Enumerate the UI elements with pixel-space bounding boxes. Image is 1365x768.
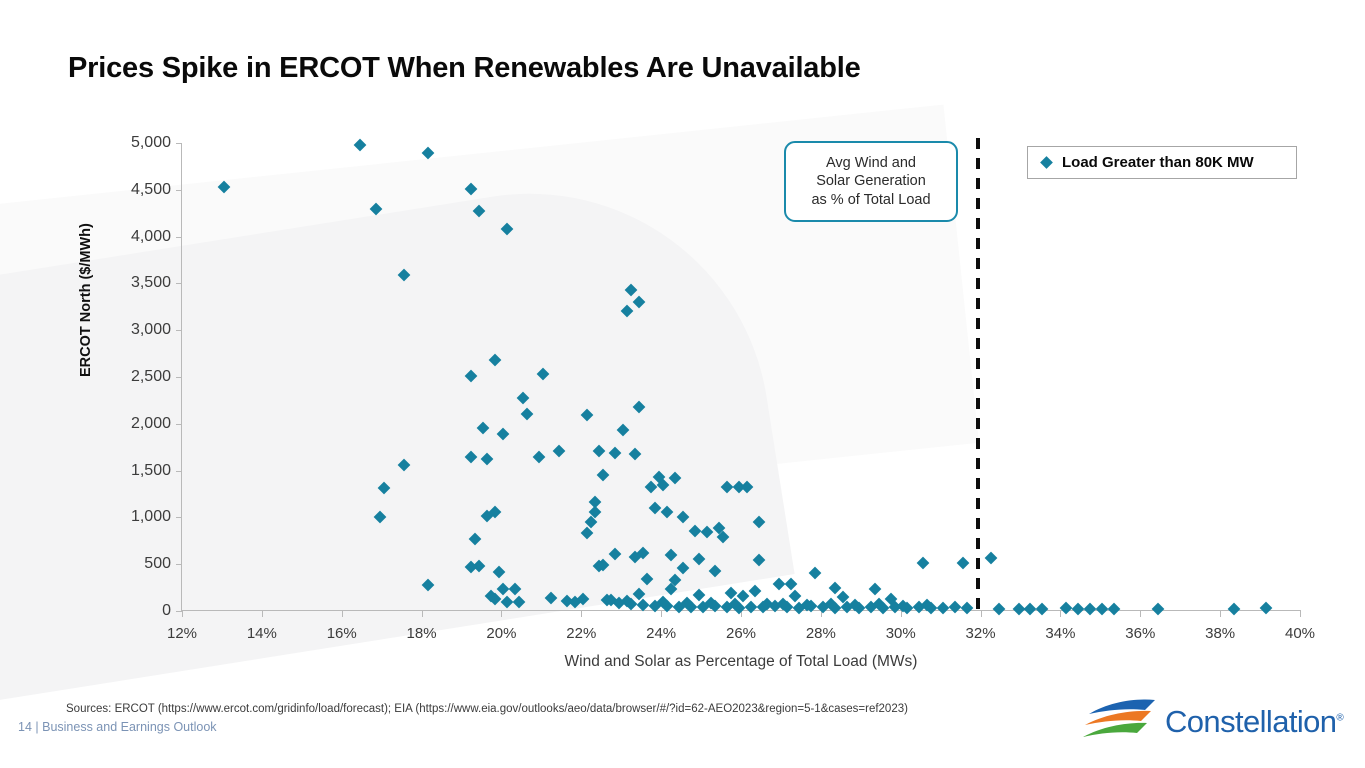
y-tick-label: 1,500 — [131, 462, 171, 480]
scatter-point — [597, 469, 610, 482]
annotation-line-2: Solar Generation — [816, 172, 926, 191]
x-tick-mark — [981, 611, 982, 617]
y-tick-label: 4,000 — [131, 228, 171, 246]
scatter-point — [1036, 602, 1049, 615]
x-tick-mark — [1300, 611, 1301, 617]
y-tick-label: 3,500 — [131, 274, 171, 292]
scatter-point — [521, 408, 534, 421]
scatter-point — [936, 602, 949, 615]
scatter-point — [465, 450, 478, 463]
scatter-point — [661, 505, 674, 518]
legend-series-label: Load Greater than 80K MW — [1062, 154, 1254, 171]
scatter-point — [737, 589, 750, 602]
y-tick-label: 1,000 — [131, 508, 171, 526]
x-tick-label: 28% — [806, 625, 836, 642]
scatter-point — [497, 427, 510, 440]
x-tick-label: 34% — [1045, 625, 1075, 642]
scatter-point — [753, 516, 766, 529]
scatter-point — [465, 182, 478, 195]
scatter-point — [693, 552, 706, 565]
x-tick-label: 30% — [886, 625, 916, 642]
y-tick-label: 500 — [144, 555, 171, 573]
x-tick-label: 22% — [566, 625, 596, 642]
scatter-point — [633, 296, 646, 309]
chart-legend[interactable]: Load Greater than 80K MW — [1027, 146, 1297, 179]
scatter-point — [421, 578, 434, 591]
scatter-point — [1108, 603, 1121, 616]
x-tick-label: 24% — [646, 625, 676, 642]
annotation-line-3: as % of Total Load — [811, 191, 930, 210]
y-tick-mark — [176, 190, 182, 191]
scatter-point — [593, 445, 606, 458]
scatter-point — [956, 556, 969, 569]
scatter-point — [533, 451, 546, 464]
y-tick-mark — [176, 471, 182, 472]
scatter-point — [677, 562, 690, 575]
x-tick-mark — [1140, 611, 1141, 617]
scatter-point — [369, 202, 382, 215]
scatter-point — [1152, 602, 1165, 615]
scatter-point — [960, 602, 973, 615]
scatter-point — [665, 548, 678, 561]
page-title: Prices Spike in ERCOT When Renewables Ar… — [68, 52, 861, 85]
scatter-point — [633, 587, 646, 600]
x-tick-mark — [182, 611, 183, 617]
scatter-point — [641, 572, 654, 585]
scatter-point — [625, 284, 638, 297]
scatter-point — [789, 590, 802, 603]
annotation-line-1: Avg Wind and — [826, 154, 916, 173]
x-tick-label: 18% — [407, 625, 437, 642]
scatter-point — [984, 551, 997, 564]
scatter-point — [465, 370, 478, 383]
scatter-point — [785, 578, 798, 591]
scatter-point — [1228, 602, 1241, 615]
scatter-point — [581, 526, 594, 539]
scatter-point — [397, 268, 410, 281]
x-tick-label: 14% — [247, 625, 277, 642]
y-tick-mark — [176, 517, 182, 518]
scatter-point — [749, 585, 762, 598]
scatter-point — [469, 533, 482, 546]
scatter-point — [1260, 602, 1273, 615]
scatter-point — [992, 602, 1005, 615]
scatter-point — [916, 557, 929, 570]
page-number: 14 — [18, 720, 32, 734]
scatter-point — [633, 401, 646, 414]
y-tick-label: 5,000 — [131, 134, 171, 152]
y-tick-mark — [176, 330, 182, 331]
constellation-logo: Constellation® — [1083, 698, 1353, 746]
y-tick-mark — [176, 237, 182, 238]
scatter-point — [493, 566, 506, 579]
x-tick-label: 26% — [726, 625, 756, 642]
y-tick-mark — [176, 143, 182, 144]
scatter-point — [545, 592, 558, 605]
scatter-point — [553, 445, 566, 458]
y-tick-mark — [176, 377, 182, 378]
scatter-point — [513, 596, 526, 609]
x-tick-label: 12% — [167, 625, 197, 642]
x-tick-mark — [661, 611, 662, 617]
y-tick-label: 4,500 — [131, 181, 171, 199]
x-tick-label: 16% — [327, 625, 357, 642]
scatter-point — [481, 453, 494, 466]
source-note: Sources: ERCOT (https://www.ercot.com/gr… — [66, 703, 908, 715]
scatter-point — [509, 582, 522, 595]
x-axis-title: Wind and Solar as Percentage of Total Lo… — [182, 653, 1300, 671]
scatter-point — [868, 583, 881, 596]
scatter-point — [609, 446, 622, 459]
scatter-point — [421, 147, 434, 160]
scatter-plot-area: 05001,0001,5002,0002,5003,0003,5004,0004… — [182, 143, 1300, 611]
scatter-point — [609, 548, 622, 561]
y-tick-mark — [176, 564, 182, 565]
scatter-point — [373, 511, 386, 524]
scatter-point — [501, 223, 514, 236]
scatter-point — [621, 305, 634, 318]
brand-name: Constellation — [1165, 704, 1336, 739]
threshold-dashed-line — [976, 138, 980, 612]
x-tick-mark — [422, 611, 423, 617]
scatter-point — [397, 459, 410, 472]
scatter-point — [537, 368, 550, 381]
x-tick-mark — [342, 611, 343, 617]
footer-label: | Business and Earnings Outlook — [35, 720, 216, 734]
scatter-point — [649, 501, 662, 514]
x-tick-label: 20% — [486, 625, 516, 642]
scatter-point — [669, 472, 682, 485]
scatter-point — [773, 577, 786, 590]
x-tick-label: 40% — [1285, 625, 1315, 642]
scatter-point — [517, 391, 530, 404]
scatter-point — [489, 354, 502, 367]
scatter-point — [473, 205, 486, 218]
scatter-point — [353, 138, 366, 151]
x-tick-mark — [1220, 611, 1221, 617]
y-axis-title: ERCOT North ($/MWh) — [78, 223, 94, 377]
x-tick-label: 36% — [1125, 625, 1155, 642]
y-tick-label: 2,500 — [131, 368, 171, 386]
logo-swoosh-icon — [1083, 698, 1161, 744]
x-tick-label: 32% — [966, 625, 996, 642]
annotation-callout: Avg Wind and Solar Generation as % of To… — [784, 141, 958, 222]
x-tick-label: 38% — [1205, 625, 1235, 642]
scatter-point — [218, 181, 231, 194]
y-tick-label: 0 — [162, 602, 171, 620]
logo-wordmark: Constellation® — [1165, 704, 1343, 740]
scatter-point — [477, 422, 490, 435]
legend-diamond-icon — [1040, 156, 1053, 169]
y-tick-label: 3,000 — [131, 321, 171, 339]
x-tick-mark — [581, 611, 582, 617]
registered-mark: ® — [1336, 713, 1343, 724]
y-tick-label: 2,000 — [131, 415, 171, 433]
x-tick-mark — [1060, 611, 1061, 617]
page-footer: 14 | Business and Earnings Outlook — [18, 720, 217, 734]
scatter-point — [709, 565, 722, 578]
scatter-point — [645, 480, 658, 493]
y-tick-mark — [176, 283, 182, 284]
scatter-point — [808, 567, 821, 580]
scatter-point — [677, 511, 690, 524]
scatter-point — [617, 424, 630, 437]
scatter-point — [828, 581, 841, 594]
scatter-point — [689, 524, 702, 537]
scatter-point — [581, 409, 594, 422]
scatter-point — [629, 447, 642, 460]
scatter-point — [753, 553, 766, 566]
scatter-point — [693, 588, 706, 601]
x-tick-mark — [262, 611, 263, 617]
y-tick-mark — [176, 424, 182, 425]
x-tick-mark — [501, 611, 502, 617]
scatter-point — [741, 481, 754, 494]
scatter-point — [948, 601, 961, 614]
scatter-point — [377, 482, 390, 495]
